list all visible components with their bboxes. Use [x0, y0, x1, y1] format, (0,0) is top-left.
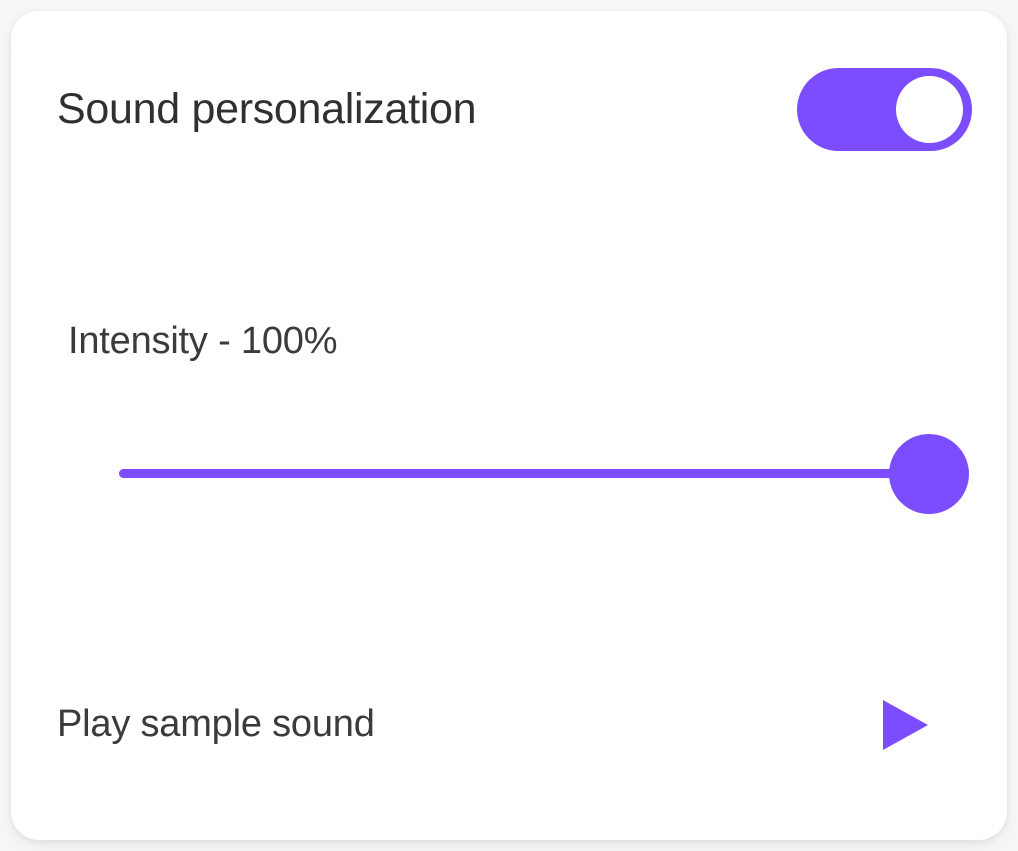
intensity-label: Intensity - 100%	[68, 318, 337, 366]
page-title: Sound personalization	[57, 88, 476, 131]
play-triangle-icon[interactable]	[881, 699, 929, 751]
slider-thumb-icon[interactable]	[889, 434, 969, 514]
play-sample-sound-label: Play sample sound	[57, 701, 375, 749]
card-header-row: Sound personalization	[11, 11, 1007, 207]
intensity-slider[interactable]	[119, 434, 969, 514]
play-sample-sound-row[interactable]: Play sample sound	[11, 673, 1007, 777]
slider-fill	[119, 469, 929, 478]
sound-personalization-card: Sound personalization Intensity - 100% P…	[11, 11, 1007, 840]
toggle-knob-icon	[896, 76, 963, 143]
sound-personalization-toggle[interactable]	[797, 68, 972, 151]
